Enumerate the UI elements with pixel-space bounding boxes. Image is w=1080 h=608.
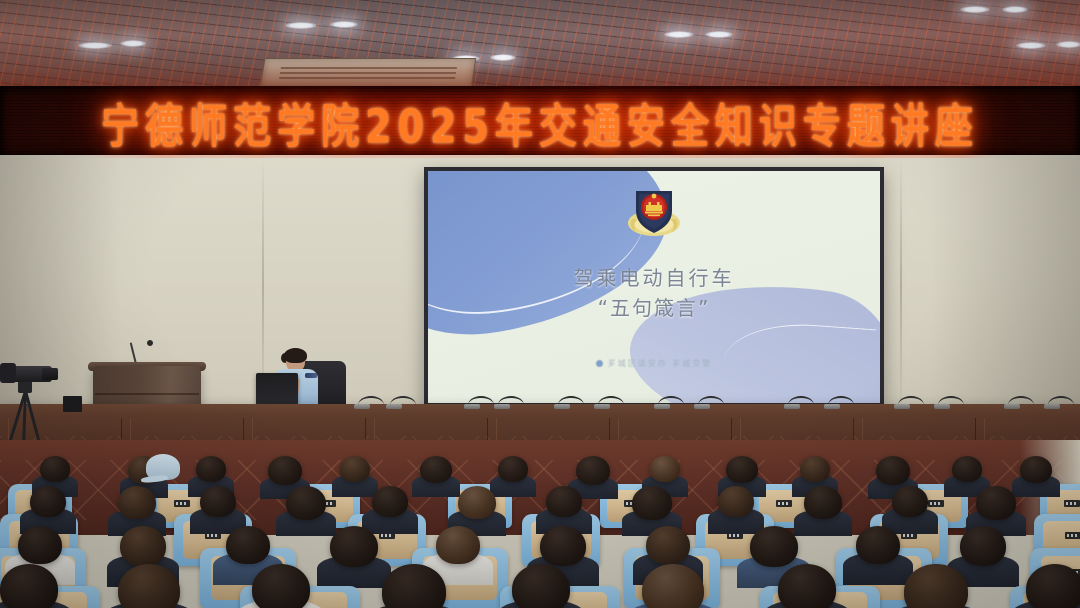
- attendee-head: [642, 564, 704, 608]
- podium-microphone-head-icon: [147, 340, 153, 346]
- attendee-head: [118, 564, 180, 608]
- camera-viewfinder: [42, 368, 58, 380]
- attendee-head: [718, 486, 754, 517]
- stage-wall-shadow-right: [930, 155, 1080, 420]
- attendee-head: [18, 526, 62, 564]
- attendee-head: [1020, 456, 1052, 483]
- china-police-emblem-icon: [624, 183, 684, 239]
- ceiling-light-3: [330, 21, 358, 28]
- attendee-head: [118, 486, 156, 519]
- led-banner: 宁德师范学院2025年交通安全知识专题讲座: [0, 86, 1080, 158]
- attendee-head: [340, 456, 370, 482]
- ceiling-light-0: [78, 42, 112, 49]
- attendee-head: [892, 486, 928, 517]
- attendee-head: [576, 456, 610, 485]
- desk-microphone-arm-13: [1048, 396, 1074, 407]
- attendee-head: [286, 486, 326, 520]
- attendee-head: [252, 564, 310, 608]
- attendee-head: [30, 486, 66, 517]
- desk-microphone-arm-9: [828, 396, 854, 407]
- desk-microphone-arm-1: [390, 396, 416, 407]
- ceiling-ac-vent-0: [260, 58, 477, 88]
- ceiling-light-8: [960, 6, 990, 13]
- led-banner-text: 宁德师范学院2025年交通安全知识专题讲座: [101, 88, 979, 155]
- slide-footer-text: 芗城区道安办 芗城交警: [608, 359, 713, 368]
- attendee-head: [646, 526, 690, 564]
- slide-footer: 芗城区道安办 芗城交警: [428, 358, 880, 369]
- attendee-head: [120, 526, 166, 566]
- desk-microphone-arm-11: [938, 396, 964, 407]
- seat-number-plate: [174, 500, 190, 507]
- ceiling-light-11: [1056, 41, 1080, 48]
- slide-footer-dot-icon: [596, 360, 603, 367]
- desk-microphone-arm-5: [598, 396, 624, 407]
- ceiling-light-6: [664, 31, 694, 38]
- ceiling-light-7: [705, 31, 733, 38]
- attendee-head: [632, 486, 672, 520]
- ceiling-light-1: [120, 40, 146, 47]
- desk-microphone-arm-8: [788, 396, 814, 407]
- desk-microphone-arm-6: [658, 396, 684, 407]
- ceiling-light-9: [1002, 6, 1028, 13]
- seat-number-plate: [928, 500, 944, 507]
- attendee-head: [1026, 564, 1080, 608]
- attendee-head: [0, 564, 58, 608]
- auditorium-scene: 宁德师范学院2025年交通安全知识专题讲座: [0, 0, 1080, 608]
- attendee-head: [976, 486, 1016, 520]
- attendee-head: [540, 526, 586, 566]
- presenter-epaulette-right: [305, 373, 317, 378]
- attendee-head: [750, 526, 798, 567]
- attendee-head: [650, 456, 680, 482]
- attendee-head: [200, 486, 236, 517]
- attendee-head: [372, 486, 408, 517]
- seat-number-plate: [776, 500, 792, 507]
- attendee-head: [420, 456, 452, 483]
- ceiling-light-2: [285, 22, 317, 29]
- presenter-hair: [284, 348, 307, 363]
- projection-screen: 驾乘电动自行车 “五句箴言” 芗城区道安办 芗城交警: [424, 167, 884, 407]
- ceiling-light-10: [1016, 42, 1046, 49]
- desk-microphone-arm-3: [498, 396, 524, 407]
- podium-trim: [95, 393, 199, 395]
- camera-lens-hood: [0, 363, 16, 383]
- attendee-head: [196, 456, 226, 482]
- seat-number-plate: [1064, 500, 1080, 507]
- attendee-head: [512, 564, 570, 608]
- desk-microphone-arm-10: [898, 396, 924, 407]
- attendee-head: [498, 456, 528, 482]
- presentation-slide: 驾乘电动自行车 “五句箴言” 芗城区道安办 芗城交警: [428, 171, 880, 403]
- desk-microphone-arm-12: [1008, 396, 1034, 407]
- attendee-head: [40, 456, 70, 482]
- attendee-head: [876, 456, 910, 485]
- attendee-head: [726, 456, 758, 483]
- attendee-bucket-hat: [146, 454, 180, 480]
- slide-title-line-1: 驾乘电动自行车: [428, 263, 880, 293]
- desk-microphone-arm-2: [468, 396, 494, 407]
- seat-number-plate: [1065, 532, 1080, 539]
- ceiling-light-5: [490, 54, 516, 61]
- ceiling-shading: [0, 0, 1080, 97]
- attendee-head: [546, 486, 582, 517]
- attendee-head: [436, 526, 480, 564]
- desk-microphone-arm-4: [558, 396, 584, 407]
- slide-title-line-2: “五句箴言”: [428, 293, 880, 323]
- attendee-head: [960, 526, 1006, 566]
- attendee-head: [856, 526, 900, 564]
- desk-microphone-arm-0: [358, 396, 384, 407]
- attendee-head: [800, 456, 830, 482]
- attendee-head: [778, 564, 836, 608]
- attendee-head: [226, 526, 270, 564]
- presenter-laptop: [256, 373, 298, 405]
- attendee-head: [330, 526, 378, 567]
- slide-title: 驾乘电动自行车 “五句箴言”: [428, 263, 880, 323]
- attendee-head: [268, 456, 302, 485]
- attendee-head: [952, 456, 982, 482]
- attendee-head: [458, 486, 496, 519]
- tripod-head: [18, 381, 32, 393]
- audience-area: [0, 440, 1080, 608]
- wall-seam-right: [900, 155, 902, 420]
- desk-microphone-arm-7: [698, 396, 724, 407]
- attendee-head: [804, 486, 842, 519]
